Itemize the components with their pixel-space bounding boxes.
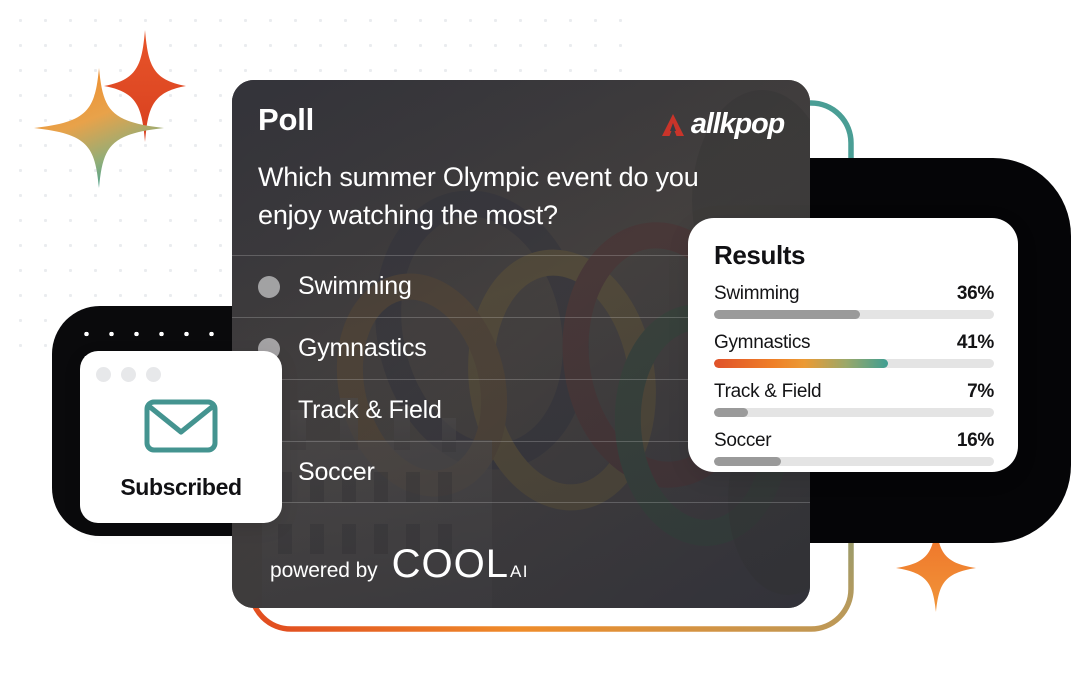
result-percent: 36% [957, 283, 994, 305]
result-progress-track [714, 457, 994, 466]
window-dots [96, 367, 161, 382]
ai-suffix: AI [510, 562, 529, 582]
allkpop-logo: allkpop [660, 108, 784, 141]
sparkle-large-gradient-icon [34, 68, 164, 188]
poll-title: Poll [258, 104, 314, 137]
cool-ai-logo: COOL AI [392, 544, 529, 584]
result-progress-fill [714, 359, 888, 368]
allkpop-wordmark: allkpop [691, 108, 784, 141]
window-dot-icon [96, 367, 111, 382]
poll-header: Poll allkpop [258, 104, 784, 141]
result-percent: 7% [967, 381, 994, 403]
envelope-icon [144, 399, 218, 453]
result-row: Track & Field 7% [714, 381, 994, 417]
result-row: Gymnastics 41% [714, 332, 994, 368]
result-row: Swimming 36% [714, 283, 994, 319]
result-progress-fill [714, 408, 748, 417]
sparkle-small-top-icon [104, 30, 186, 142]
subscribed-label: Subscribed [80, 474, 282, 501]
allkpop-triangle-mark-icon [660, 112, 686, 138]
composition-stage: Poll allkpop Which summer Olympic event … [0, 0, 1075, 681]
result-label: Swimming [714, 283, 799, 305]
result-progress-fill [714, 457, 781, 466]
window-dot-icon [121, 367, 136, 382]
radio-button-icon[interactable] [258, 276, 280, 298]
result-progress-fill [714, 310, 860, 319]
subscribed-card: Subscribed [80, 351, 282, 523]
powered-by-label: powered by [270, 559, 378, 583]
result-label: Gymnastics [714, 332, 810, 354]
result-progress-track [714, 408, 994, 417]
result-label: Soccer [714, 430, 771, 452]
poll-option-label: Track & Field [298, 396, 442, 425]
poll-footer: powered by COOL AI [270, 544, 529, 584]
poll-option-label: Gymnastics [298, 334, 427, 363]
result-row: Soccer 16% [714, 430, 994, 466]
results-title: Results [714, 240, 994, 271]
window-dot-icon [146, 367, 161, 382]
poll-option-label: Soccer [298, 458, 375, 487]
result-label: Track & Field [714, 381, 821, 403]
poll-question: Which summer Olympic event do you enjoy … [258, 158, 738, 235]
result-progress-track [714, 359, 994, 368]
result-percent: 41% [957, 332, 994, 354]
result-percent: 16% [957, 430, 994, 452]
poll-option-label: Swimming [298, 272, 412, 301]
results-card: Results Swimming 36% Gymnastics 41% Trac… [688, 218, 1018, 472]
cool-wordmark: COOL [392, 544, 509, 584]
result-progress-track [714, 310, 994, 319]
